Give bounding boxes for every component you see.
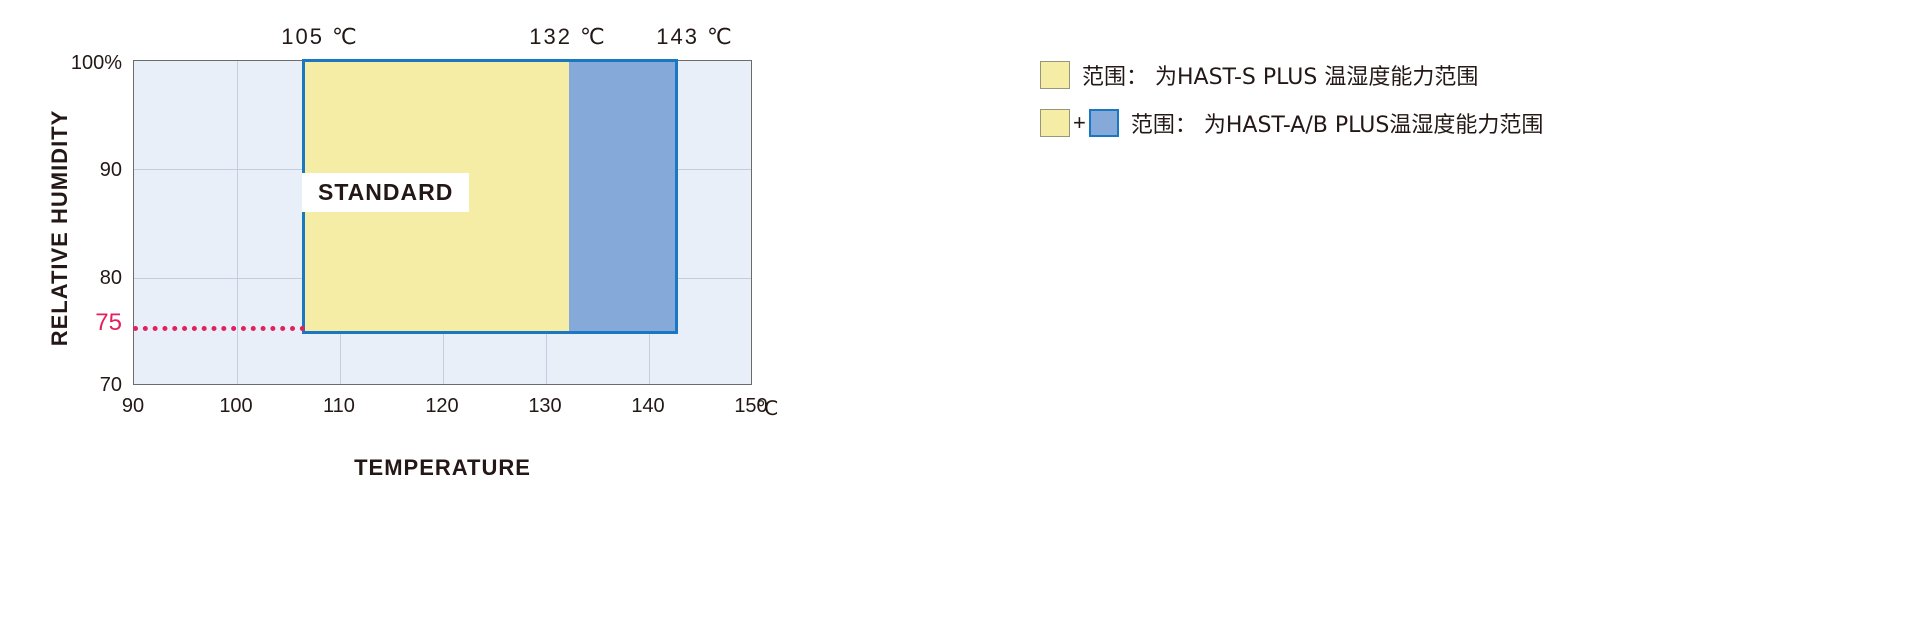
top-annotation-105: 105 ℃: [230, 24, 410, 50]
x-tick-150: 150: [706, 395, 796, 418]
top-annotation-143: 143 ℃: [605, 24, 785, 50]
y-tick-75-reference: 75: [30, 309, 122, 337]
x-tick-120: 120: [397, 395, 487, 418]
x-tick-90: 90: [88, 395, 178, 418]
plot-area: STANDARD: [133, 60, 752, 385]
legend-label-hast-s-plus: 范围： 为HAST-S PLUS 温湿度能力范围: [1082, 59, 1478, 91]
legend-plus-sign: +: [1073, 110, 1086, 136]
x-axis-title: TEMPERATURE: [133, 455, 752, 481]
reference-line-75: [133, 326, 305, 331]
x-axis-unit: ℃: [756, 396, 778, 421]
y-tick-100: 100%: [30, 52, 122, 75]
y-axis-title: RELATIVE HUMIDITY: [47, 63, 73, 393]
gridline-x-100: [237, 61, 238, 384]
x-tick-110: 110: [294, 395, 384, 418]
x-tick-100: 100: [191, 395, 281, 418]
x-tick-140: 140: [603, 395, 693, 418]
y-tick-80: 80: [30, 267, 122, 290]
legend-swatch-blue-icon: [1089, 109, 1119, 137]
legend-item-hast-s-plus: 范围： 为HAST-S PLUS 温湿度能力范围: [1040, 55, 1860, 95]
standard-label: STANDARD: [302, 173, 469, 212]
region-hast-ab-plus: [569, 61, 676, 332]
temperature-humidity-chart: 105 ℃ 132 ℃ 143 ℃ 100% 90 80 75 70 RELAT…: [0, 0, 1000, 628]
legend-swatch-yellow-icon: [1040, 109, 1070, 137]
y-tick-70: 70: [30, 374, 122, 397]
legend-swatch-yellow-icon: [1040, 61, 1070, 89]
x-tick-130: 130: [500, 395, 590, 418]
legend: 范围： 为HAST-S PLUS 温湿度能力范围 + 范围： 为HAST-A/B…: [1040, 55, 1860, 151]
legend-item-hast-ab-plus: + 范围： 为HAST-A/B PLUS温湿度能力范围: [1040, 103, 1860, 143]
y-tick-90: 90: [30, 159, 122, 182]
chart-page: 105 ℃ 132 ℃ 143 ℃ 100% 90 80 75 70 RELAT…: [0, 0, 1920, 628]
legend-label-hast-ab-plus: 范围： 为HAST-A/B PLUS温湿度能力范围: [1131, 107, 1543, 139]
